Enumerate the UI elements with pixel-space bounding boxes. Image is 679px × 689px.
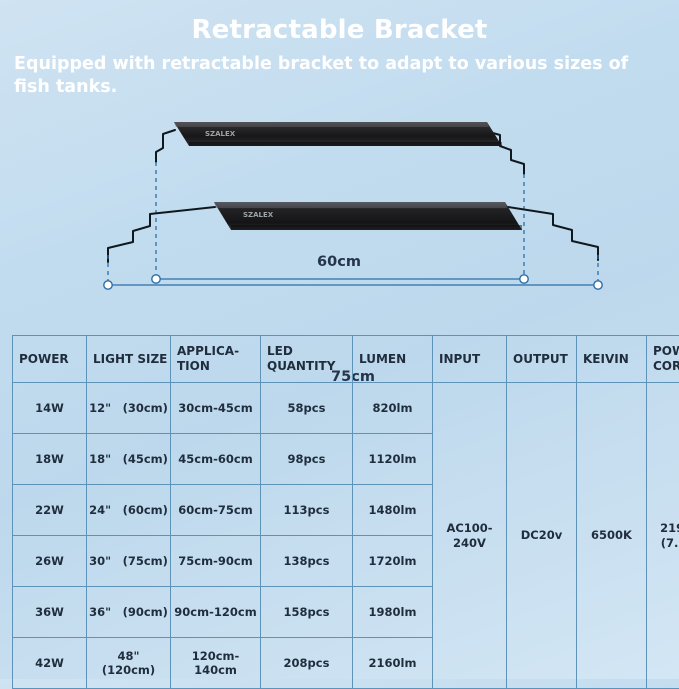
- power-cord-length: 219cm: [648, 521, 679, 535]
- cell-led-quantity: 138pcs: [261, 536, 353, 587]
- cell-power: 26W: [13, 536, 87, 587]
- cell-lumen: 2160lm: [353, 638, 433, 689]
- cell-application: 30cm-45cm: [171, 383, 261, 434]
- cell-light-size: 24" (60cm): [87, 485, 171, 536]
- cell-led-quantity: 158pcs: [261, 587, 353, 638]
- cell-light-size: 48" (120cm): [87, 638, 171, 689]
- cell-power: 14W: [13, 383, 87, 434]
- cell-power: 42W: [13, 638, 87, 689]
- column-header-application: APPLICA-TION: [171, 336, 261, 383]
- cell-power-cord: 219cm (7.2ft): [647, 383, 679, 689]
- cell-application: 75cm-90cm: [171, 536, 261, 587]
- column-header-output: OUTPUT: [507, 336, 577, 383]
- column-header-power-cord: POWER CORD: [647, 336, 679, 383]
- power-cord-length-imperial: (7.2ft): [648, 536, 679, 550]
- cell-led-quantity: 58pcs: [261, 383, 353, 434]
- column-header-power: POWER: [13, 336, 87, 383]
- cell-keivin: 6500K: [577, 383, 647, 689]
- cell-output: DC20v: [507, 383, 577, 689]
- column-header-light-size: LIGHT SIZE: [87, 336, 171, 383]
- specification-table: POWER LIGHT SIZE APPLICA-TION LED QUANTI…: [12, 335, 679, 689]
- cell-light-size: 12" (30cm): [87, 383, 171, 434]
- cell-light-size: 36" (90cm): [87, 587, 171, 638]
- cell-power: 36W: [13, 587, 87, 638]
- cell-application: 45cm-60cm: [171, 434, 261, 485]
- cell-power: 22W: [13, 485, 87, 536]
- cell-application: 90cm-120cm: [171, 587, 261, 638]
- table-body: 14W 12" (30cm) 30cm-45cm 58pcs 820lm AC1…: [13, 383, 679, 689]
- svg-text:SZALEX: SZALEX: [243, 211, 274, 219]
- table-header: POWER LIGHT SIZE APPLICA-TION LED QUANTI…: [13, 336, 679, 383]
- column-header-input: INPUT: [433, 336, 507, 383]
- cell-lumen: 1980lm: [353, 587, 433, 638]
- cell-power: 18W: [13, 434, 87, 485]
- cell-lumen: 1480lm: [353, 485, 433, 536]
- cell-lumen: 1720lm: [353, 536, 433, 587]
- specification-table-wrap: POWER LIGHT SIZE APPLICA-TION LED QUANTI…: [12, 335, 667, 689]
- cell-lumen: 820lm: [353, 383, 433, 434]
- table-header-row: POWER LIGHT SIZE APPLICA-TION LED QUANTI…: [13, 336, 679, 383]
- cell-led-quantity: 98pcs: [261, 434, 353, 485]
- page-title: Retractable Bracket: [0, 0, 679, 45]
- product-infographic: Retractable Bracket Equipped with retrac…: [0, 0, 679, 679]
- column-header-led-quantity: LED QUANTITY: [261, 336, 353, 383]
- cell-led-quantity: 113pcs: [261, 485, 353, 536]
- cell-light-size: 30" (75cm): [87, 536, 171, 587]
- cell-application: 60cm-75cm: [171, 485, 261, 536]
- column-header-lumen: LUMEN: [353, 336, 433, 383]
- cell-application: 120cm-140cm: [171, 638, 261, 689]
- column-header-keivin: KEIVIN: [577, 336, 647, 383]
- page-subtitle: Equipped with retractable bracket to ada…: [0, 45, 679, 100]
- cell-lumen: 1120lm: [353, 434, 433, 485]
- table-row: 14W 12" (30cm) 30cm-45cm 58pcs 820lm AC1…: [13, 383, 679, 434]
- cell-input: AC100-240V: [433, 383, 507, 689]
- svg-text:SZALEX: SZALEX: [205, 130, 236, 138]
- cell-light-size: 18" (45cm): [87, 434, 171, 485]
- cell-led-quantity: 208pcs: [261, 638, 353, 689]
